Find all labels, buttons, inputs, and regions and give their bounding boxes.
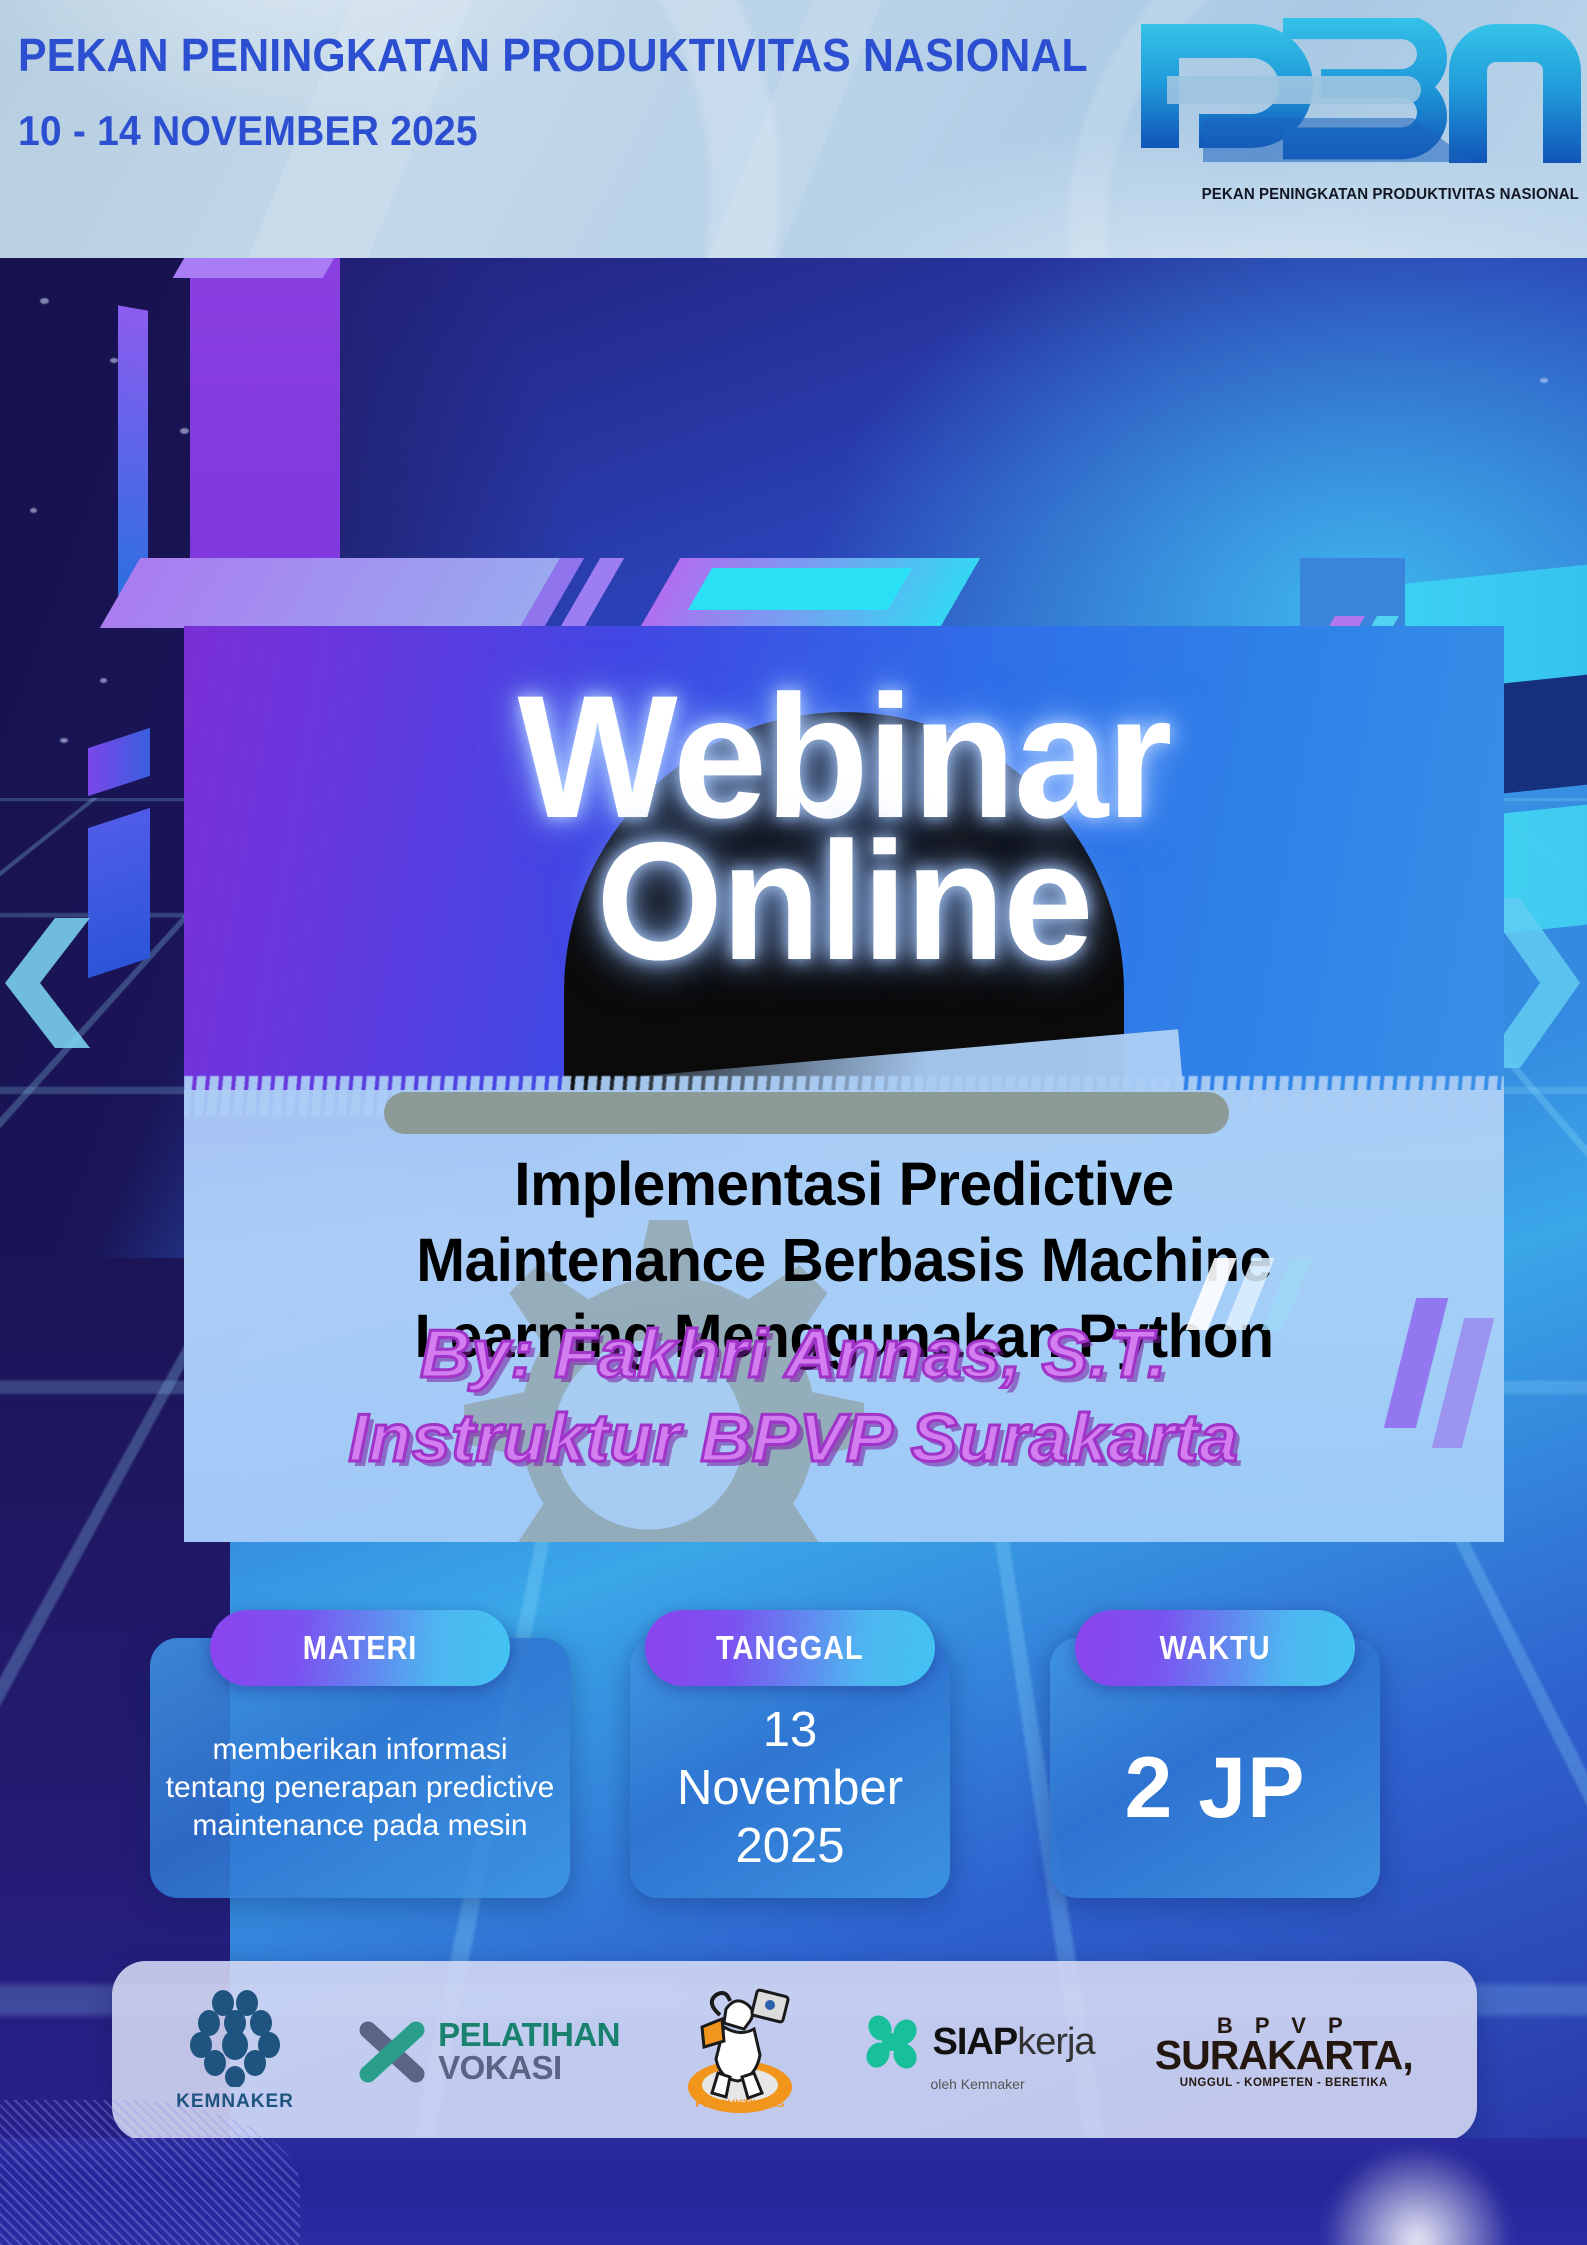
poster-bottom-flare bbox=[1287, 2150, 1547, 2245]
bpvp-tagline: UNGGUL - KOMPETEN - BERETIKA bbox=[1180, 2077, 1388, 2089]
card-materi-label: MATERI bbox=[303, 1629, 417, 1667]
p3n-logo-mark bbox=[1133, 18, 1581, 168]
kemnaker-icon bbox=[189, 1989, 281, 2087]
background-star bbox=[180, 428, 189, 434]
headline-accent-pill bbox=[384, 1092, 1229, 1134]
background-star bbox=[30, 508, 37, 513]
pelatihan-vokasi-text: PELATIHAN VOKASI bbox=[438, 2018, 620, 2084]
event-dates: 10 - 14 NOVEMBER 2025 bbox=[18, 104, 1088, 158]
poster-root: PEKAN PENINGKATAN PRODUKTIVITAS NASIONAL… bbox=[0, 0, 1587, 2245]
produktivitas-label: PRODUKTIVITAS bbox=[696, 2098, 785, 2110]
background-star bbox=[40, 298, 49, 304]
banner-top-decoration bbox=[180, 558, 1360, 628]
logo-bpvp-surakarta: B P V P SURAKARTA, UNGGUL - KOMPETEN - B… bbox=[1155, 2013, 1413, 2089]
logo-pelatihan-vokasi: PELATIHAN VOKASI bbox=[354, 2012, 620, 2090]
background-chevron-left-icon bbox=[0, 918, 90, 1048]
speaker-block: By: Fakhri Annas, S.T. Instruktur BPVP S… bbox=[0, 1312, 1587, 1480]
header-band: PEKAN PENINGKATAN PRODUKTIVITAS NASIONAL… bbox=[0, 0, 1587, 258]
info-cards: memberikan informasi tentang penerapan p… bbox=[0, 1578, 1587, 1908]
speaker-name: By: Fakhri Annas, S.T. bbox=[0, 1312, 1587, 1396]
card-waktu-value: 2 JP bbox=[1125, 1740, 1306, 1836]
event-title: PEKAN PENINGKATAN PRODUKTIVITAS NASIONAL bbox=[18, 26, 1088, 84]
background-star bbox=[100, 678, 107, 683]
headline-line-1: Implementasi Predictive bbox=[243, 1146, 1445, 1222]
card-waktu-label: WAKTU bbox=[1160, 1629, 1271, 1667]
siapkerja-label-bold: SIAP bbox=[932, 2021, 1017, 2064]
online-word: Online bbox=[204, 814, 1484, 989]
siapkerja-subtitle: oleh Kemnaker bbox=[930, 2076, 1024, 2092]
background-star bbox=[1540, 378, 1548, 383]
vokasi-label: VOKASI bbox=[438, 2051, 620, 2084]
background-shard-left-1 bbox=[118, 305, 148, 600]
p3n-logo-icon bbox=[1133, 18, 1581, 168]
header-text-block: PEKAN PENINGKATAN PRODUKTIVITAS NASIONAL… bbox=[18, 26, 1168, 158]
siapkerja-icon bbox=[860, 2010, 924, 2074]
deco-parallelogram-cyan-inner bbox=[688, 568, 912, 610]
logo-kemnaker: KEMNAKER bbox=[176, 1989, 294, 2113]
background-shard-left-3 bbox=[88, 808, 150, 978]
siapkerja-row: SIAP kerja bbox=[860, 2010, 1094, 2074]
p3n-logo: PEKAN PENINGKATAN PRODUKTIVITAS NASIONAL bbox=[1133, 18, 1581, 208]
deco-parallelogram-purple bbox=[100, 558, 560, 628]
card-tanggal-value: 13 November 2025 bbox=[644, 1701, 936, 1875]
footer-logo-bar: KEMNAKER PELATIHAN VOKASI bbox=[112, 1961, 1477, 2141]
background-star bbox=[110, 358, 118, 363]
logo-siapkerja: SIAP kerja oleh Kemnaker bbox=[860, 2010, 1094, 2092]
card-waktu-tab: WAKTU bbox=[1075, 1610, 1355, 1686]
card-materi-tab: MATERI bbox=[210, 1610, 510, 1686]
pelatihan-vokasi-icon bbox=[354, 2012, 432, 2090]
card-tanggal-label: TANGGAL bbox=[716, 1629, 864, 1667]
speaker-role: Instruktur BPVP Surakarta bbox=[0, 1396, 1587, 1480]
card-tanggal-tab: TANGGAL bbox=[645, 1610, 935, 1686]
logo-produktivitas: PRODUKTIVITAS bbox=[680, 1987, 800, 2115]
background-star bbox=[60, 738, 68, 743]
p3n-logo-subtitle: PEKAN PENINGKATAN PRODUKTIVITAS NASIONAL bbox=[1202, 186, 1579, 204]
siapkerja-label-light: kerja bbox=[1017, 2021, 1094, 2064]
pelatihan-label: PELATIHAN bbox=[438, 2018, 620, 2051]
card-materi-value: memberikan informasi tentang penerapan p… bbox=[164, 1731, 556, 1845]
surakarta-label: SURAKARTA, bbox=[1155, 2032, 1413, 2079]
produktivitas-mascot-icon: PRODUKTIVITAS bbox=[680, 1987, 800, 2115]
poster-body-background: Webinar Online Implementasi Predictive M… bbox=[0, 258, 1587, 2245]
